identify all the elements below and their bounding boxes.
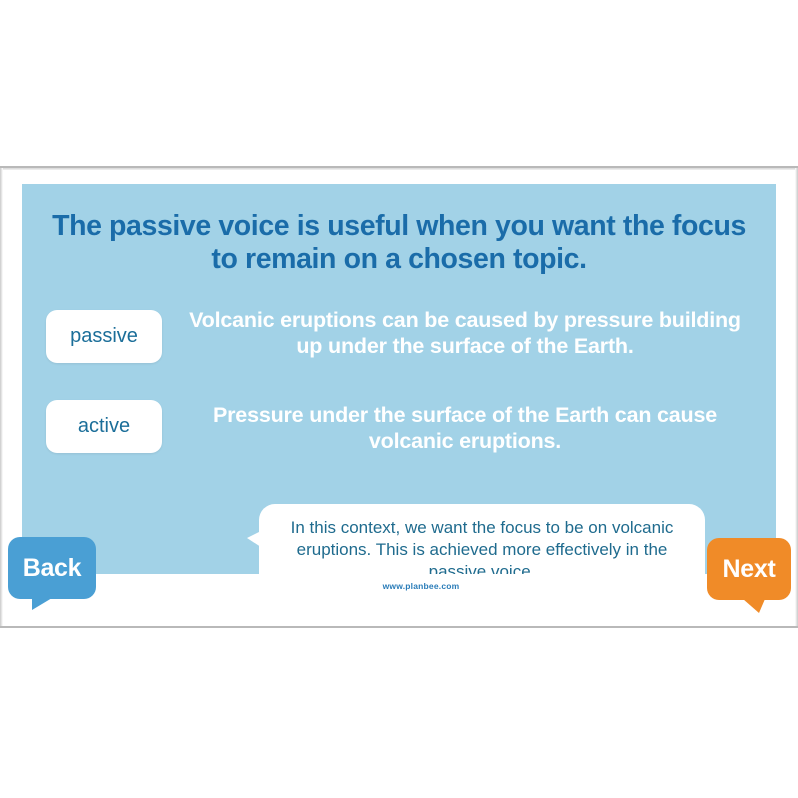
slide-footer: www.planbee.com <box>22 574 776 600</box>
voice-label-active: active <box>46 400 162 453</box>
card-top-shadow <box>0 168 798 170</box>
card-left-edge <box>0 168 3 626</box>
lesson-slide: The passive voice is useful when you wan… <box>22 184 776 600</box>
example-sentence-active: Pressure under the surface of the Earth … <box>174 402 756 454</box>
example-sentence-passive: Volcanic eruptions can be caused by pres… <box>174 307 756 359</box>
footer-website-url: www.planbee.com <box>22 581 776 591</box>
page-title: The passive voice is useful when you wan… <box>52 210 746 276</box>
voice-label-passive: passive <box>46 310 162 363</box>
slide-viewer: The passive voice is useful when you wan… <box>0 0 798 798</box>
back-button[interactable]: Back <box>8 537 96 599</box>
next-button[interactable]: Next <box>707 538 791 600</box>
